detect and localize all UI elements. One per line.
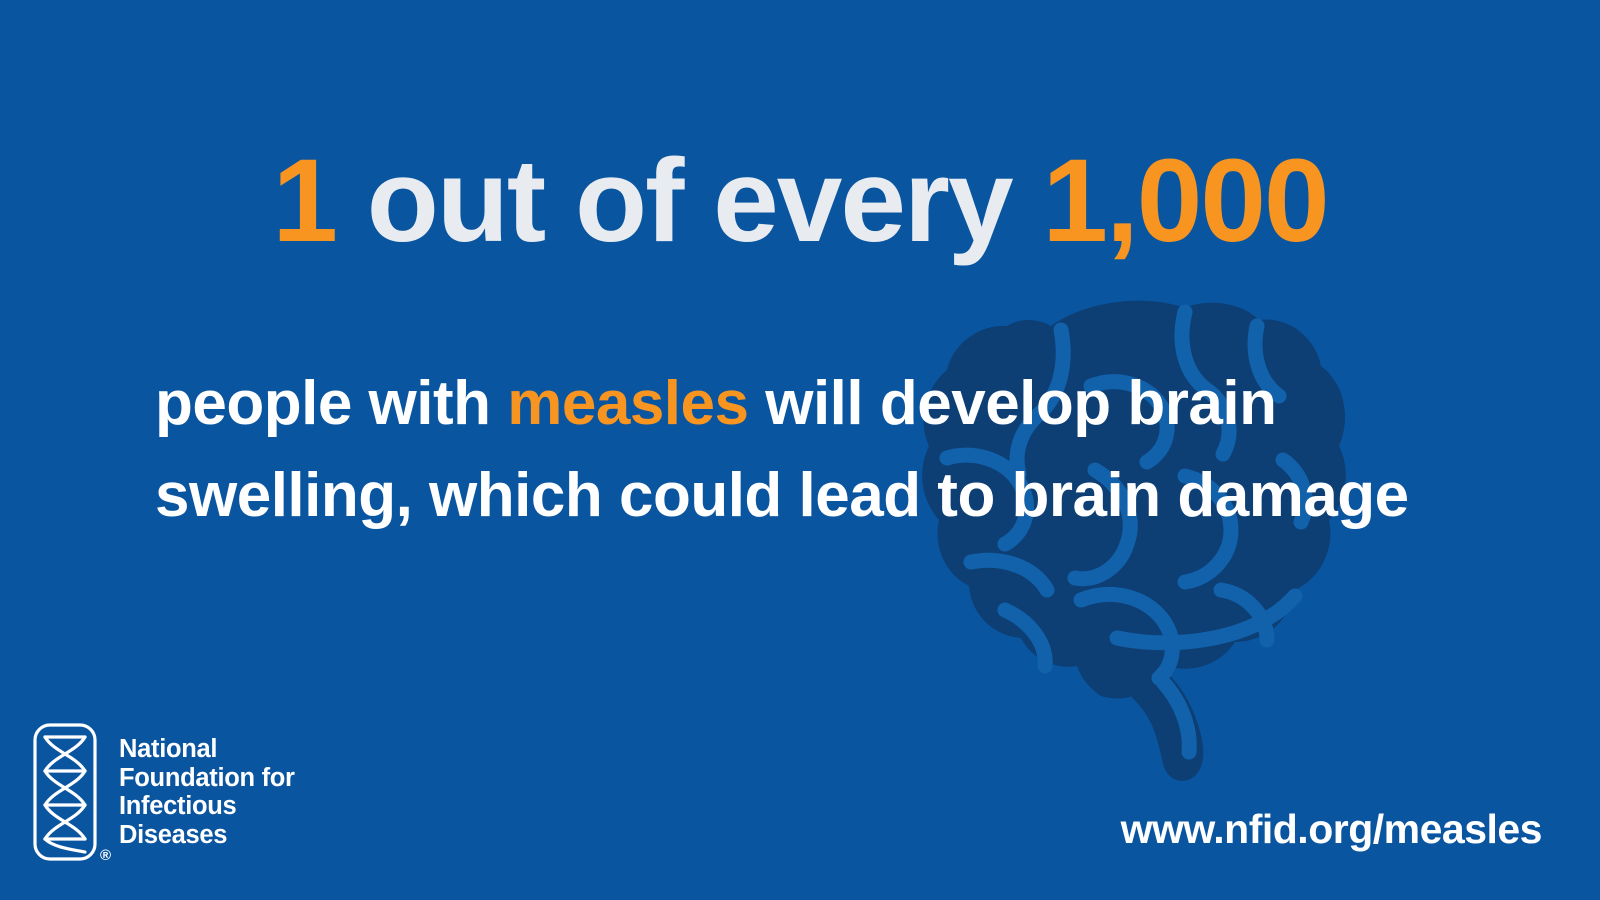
headline-stat-denominator: 1,000: [1042, 135, 1327, 267]
body-keyword-measles: measles: [507, 369, 748, 438]
website-url[interactable]: www.nfid.org/measles: [1121, 806, 1542, 853]
body-line-2: swelling, which could lead to brain dama…: [155, 450, 1455, 542]
infographic-canvas: 1 out of every 1,000 people with measles…: [0, 0, 1600, 900]
headline-stat-numerator: 1: [272, 135, 336, 267]
logo-name-line-3: Infectious: [119, 792, 295, 821]
body-line-1-post: will develop brain: [749, 369, 1277, 438]
logo-name-line-4: Diseases: [119, 821, 295, 850]
helix-strands: [45, 737, 85, 852]
logo-name-line-2: Foundation for: [119, 764, 295, 793]
registered-trademark-symbol: ®: [100, 848, 111, 863]
body-copy: people with measles will develop brain s…: [155, 358, 1455, 542]
brain-stem: [1105, 661, 1203, 781]
dna-helix-svg: [32, 722, 98, 862]
logo-name-line-1: National: [119, 735, 295, 764]
headline-connector-text: out of every: [336, 135, 1042, 267]
nfid-logo[interactable]: ® National Foundation for Infectious Dis…: [32, 722, 295, 862]
body-line-1: people with measles will develop brain: [155, 358, 1455, 450]
body-line-1-pre: people with: [155, 369, 507, 438]
logo-wordmark: National Foundation for Infectious Disea…: [119, 722, 295, 849]
dna-helix-icon: ®: [32, 722, 98, 862]
headline: 1 out of every 1,000: [0, 142, 1600, 260]
